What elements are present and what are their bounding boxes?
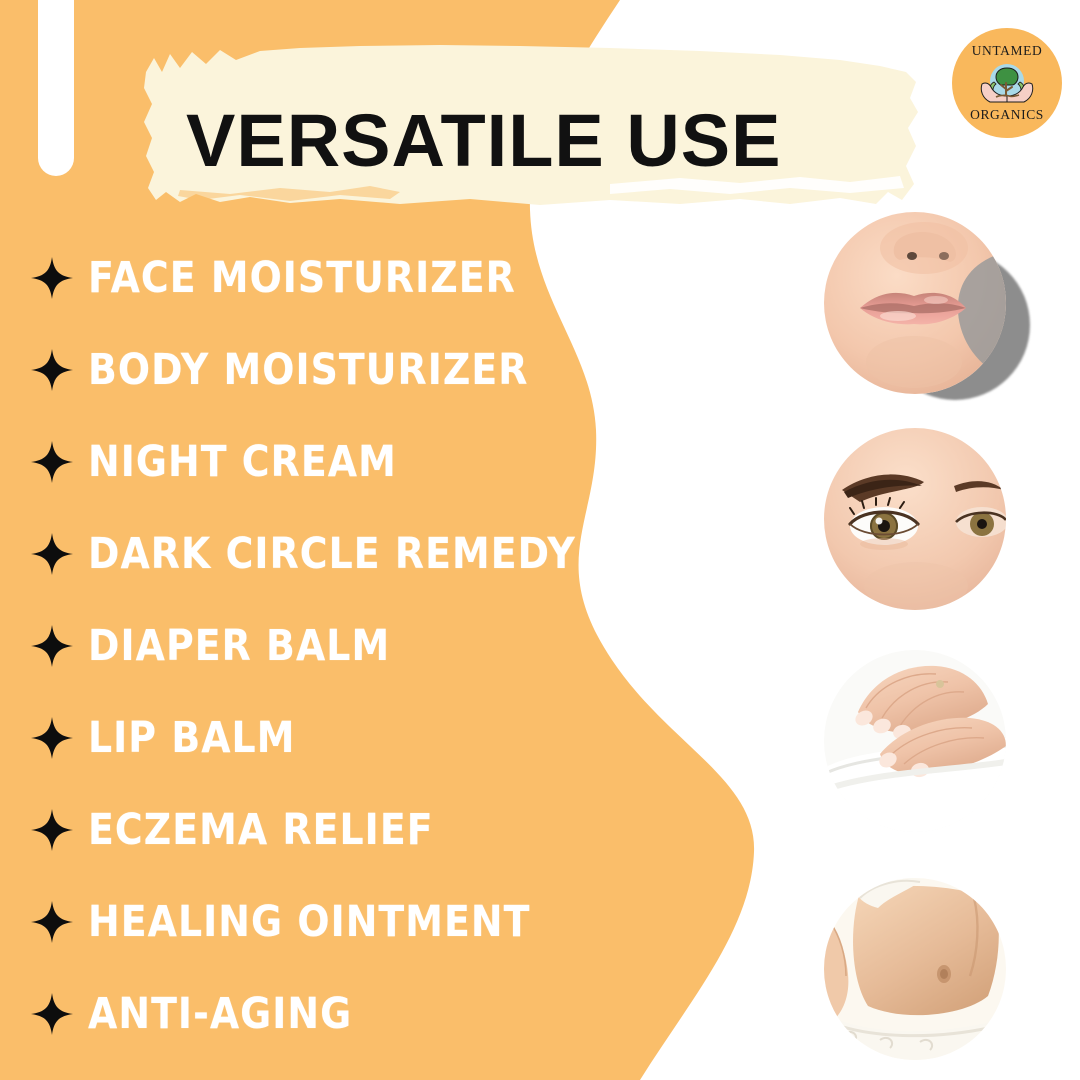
four-point-star-icon xyxy=(30,992,74,1036)
list-item[interactable]: BODY MOISTURIZER xyxy=(30,324,670,416)
list-item-label: FACE MOISTURIZER xyxy=(88,256,516,300)
four-point-star-icon xyxy=(30,716,74,760)
page-title: VERSATILE USE xyxy=(186,102,886,180)
photo-torso xyxy=(824,878,1006,1060)
list-item[interactable]: ECZEMA RELIEF xyxy=(30,784,670,876)
photo-lips-art xyxy=(824,212,1006,394)
list-item[interactable]: ANTI-AGING xyxy=(30,968,670,1060)
list-item[interactable]: DIAPER BALM xyxy=(30,600,670,692)
four-point-star-icon xyxy=(30,808,74,852)
photo-eyes-art xyxy=(824,428,1006,610)
logo-top-text: UNTAMED xyxy=(972,43,1043,59)
four-point-star-icon xyxy=(30,440,74,484)
list-item[interactable]: NIGHT CREAM xyxy=(30,416,670,508)
list-item[interactable]: FACE MOISTURIZER xyxy=(30,232,670,324)
photo-hands-art xyxy=(824,650,1006,832)
poster-canvas: VERSATILE USE UNTAMED ORGANICS FACE MOIS… xyxy=(0,0,1080,1080)
list-item-label: BODY MOISTURIZER xyxy=(88,348,528,392)
list-item[interactable]: HEALING OINTMENT xyxy=(30,876,670,968)
photo-eyes xyxy=(824,428,1006,610)
four-point-star-icon xyxy=(30,256,74,300)
brand-logo[interactable]: UNTAMED ORGANICS xyxy=(952,28,1062,138)
corner-accent-bar xyxy=(38,0,74,176)
versatile-use-list: FACE MOISTURIZER BODY MOISTURIZER NIGHT … xyxy=(30,232,670,1060)
headline-brush-banner: VERSATILE USE xyxy=(140,42,926,228)
photo-hands xyxy=(824,650,1006,832)
list-item[interactable]: DARK CIRCLE REMEDY xyxy=(30,508,670,600)
list-item[interactable]: LIP BALM xyxy=(30,692,670,784)
list-item-label: NIGHT CREAM xyxy=(88,440,397,484)
four-point-star-icon xyxy=(30,532,74,576)
list-item-label: DARK CIRCLE REMEDY xyxy=(88,532,576,576)
photo-lips xyxy=(824,212,1006,394)
list-item-label: DIAPER BALM xyxy=(88,624,390,668)
hands-cradling-tree-icon xyxy=(976,60,1038,106)
list-item-label: HEALING OINTMENT xyxy=(88,900,531,944)
four-point-star-icon xyxy=(30,624,74,668)
list-item-label: ANTI-AGING xyxy=(88,992,352,1036)
photo-torso-art xyxy=(824,878,1006,1060)
list-item-label: LIP BALM xyxy=(88,716,295,760)
logo-bottom-text: ORGANICS xyxy=(970,107,1044,123)
four-point-star-icon xyxy=(30,348,74,392)
four-point-star-icon xyxy=(30,900,74,944)
list-item-label: ECZEMA RELIEF xyxy=(88,808,434,852)
